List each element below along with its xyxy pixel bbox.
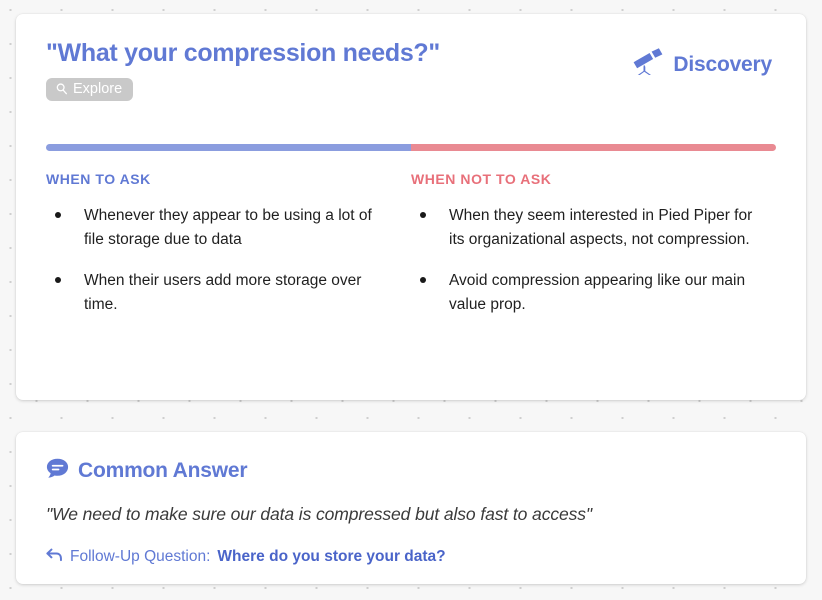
discovery-question-card: "What your compression needs?" Explore [16, 14, 806, 400]
search-icon [55, 82, 68, 95]
common-answer-card: Common Answer "We need to make sure our … [16, 432, 806, 584]
common-answer-title: Common Answer [78, 459, 247, 483]
page-title: "What your compression needs?" [46, 40, 630, 68]
when-to-ask-list: Whenever they appear to be using a lot o… [46, 204, 385, 317]
follow-up-question-label: Follow-Up Question: [70, 548, 210, 566]
split-bar-red-segment [411, 144, 776, 151]
when-not-to-ask-heading: WHEN NOT TO ASK [411, 171, 770, 187]
list-item: When they seem interested in Pied Piper … [411, 204, 770, 252]
list-item: Whenever they appear to be using a lot o… [46, 204, 385, 252]
when-not-to-ask-list: When they seem interested in Pied Piper … [411, 204, 770, 317]
follow-up-question-text: Where do you store your data? [217, 548, 445, 566]
card-header: "What your compression needs?" Explore [46, 40, 776, 101]
split-bar-blue-segment [46, 144, 411, 151]
explore-button[interactable]: Explore [46, 78, 133, 102]
when-to-ask-split-bar [46, 144, 776, 151]
card-header-left: "What your compression needs?" Explore [46, 40, 630, 101]
reply-arrow-icon [46, 547, 63, 568]
common-answer-quote: "We need to make sure our data is compre… [46, 503, 776, 526]
list-item: When their users add more storage over t… [46, 269, 385, 317]
follow-up-question-row[interactable]: Follow-Up Question: Where do you store y… [46, 547, 776, 568]
explore-button-label: Explore [73, 82, 122, 97]
telescope-icon [630, 48, 664, 81]
page-root: "What your compression needs?" Explore [0, 0, 822, 600]
speech-bubble-icon [46, 458, 69, 484]
guidance-columns: WHEN TO ASK Whenever they appear to be u… [46, 171, 776, 334]
when-not-to-ask-column: WHEN NOT TO ASK When they seem intereste… [411, 171, 776, 334]
list-item: Avoid compression appearing like our mai… [411, 269, 770, 317]
when-to-ask-heading: WHEN TO ASK [46, 171, 385, 187]
discovery-badge-label: Discovery [673, 53, 772, 77]
common-answer-header: Common Answer [46, 458, 776, 484]
when-to-ask-column: WHEN TO ASK Whenever they appear to be u… [46, 171, 411, 334]
discovery-badge[interactable]: Discovery [630, 48, 776, 81]
